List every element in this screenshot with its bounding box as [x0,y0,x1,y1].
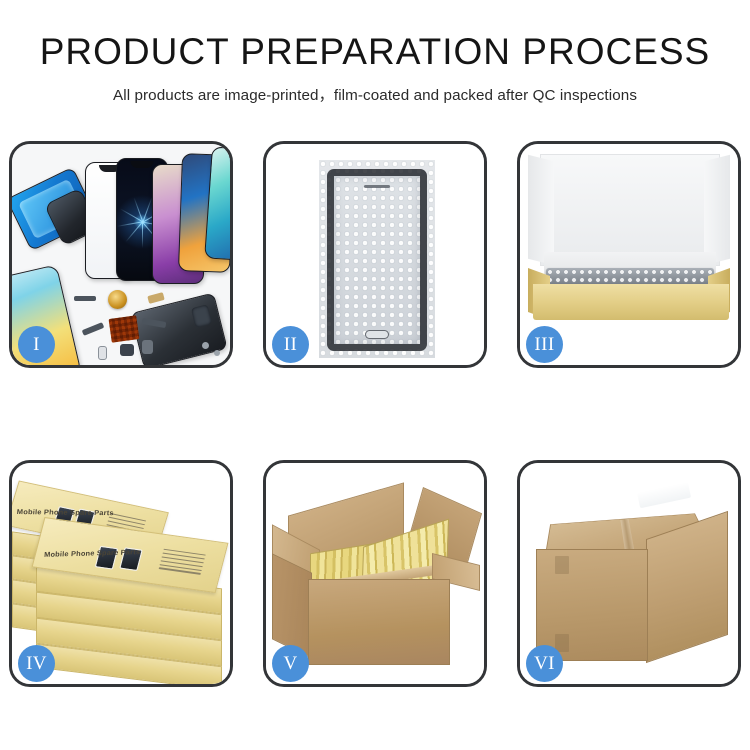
step-badge-4: IV [18,645,55,682]
step-badge-6: VI [526,645,563,682]
box-lid-left-icon [528,155,554,265]
screw-icon [214,350,220,356]
spare-part-icon [74,296,96,301]
home-button-icon [365,330,389,339]
process-step-5[interactable]: V [263,460,487,687]
spare-part-icon [147,292,165,304]
box-lid-right-icon [704,155,730,265]
step-badge-3: III [526,326,563,363]
lid-brand-text: Mobile Phone Spare Parts [17,507,115,517]
box-lid-back-icon [540,154,720,266]
box-front-panel-icon [533,284,729,320]
carton-left-panel-icon [272,553,312,659]
phone-back-housing-icon [130,292,227,365]
page-subtitle: All products are image-printed，film-coat… [0,83,750,105]
process-step-1[interactable]: I [9,141,233,368]
process-step-grid: I II II [9,141,741,687]
carton-hand-tab-icon [555,556,569,574]
chip-grid-icon [108,315,139,343]
carton-side-panel-icon [646,511,728,663]
process-step-3[interactable]: III [517,141,741,368]
page-title: PRODUCT PREPARATION PROCESS [0,33,750,72]
copper-coil-icon [108,290,127,309]
step-badge-1: I [18,326,55,363]
screw-icon [202,342,209,349]
step-badge-2: II [272,326,309,363]
earpiece-slot-icon [364,185,390,188]
step-badge-5: V [272,645,309,682]
process-step-6[interactable]: VI [517,460,741,687]
lid-text-lines-icon [158,549,206,577]
header: PRODUCT PREPARATION PROCESS All products… [0,0,750,105]
carton-front-panel-icon [536,549,648,661]
spare-part-icon [120,344,134,356]
process-step-2[interactable]: II [263,141,487,368]
carton-front-panel-icon [308,579,450,665]
wrapped-screen-icon [327,169,427,351]
process-step-4[interactable]: Mobile Phone Spare Parts Mobile Phone Sp… [9,460,233,687]
spare-part-icon [82,322,105,336]
spare-part-icon [98,346,107,360]
packing-tape-icon [637,482,691,508]
product-preparation-infographic: PRODUCT PREPARATION PROCESS All products… [0,0,750,750]
spare-part-icon [142,340,153,354]
